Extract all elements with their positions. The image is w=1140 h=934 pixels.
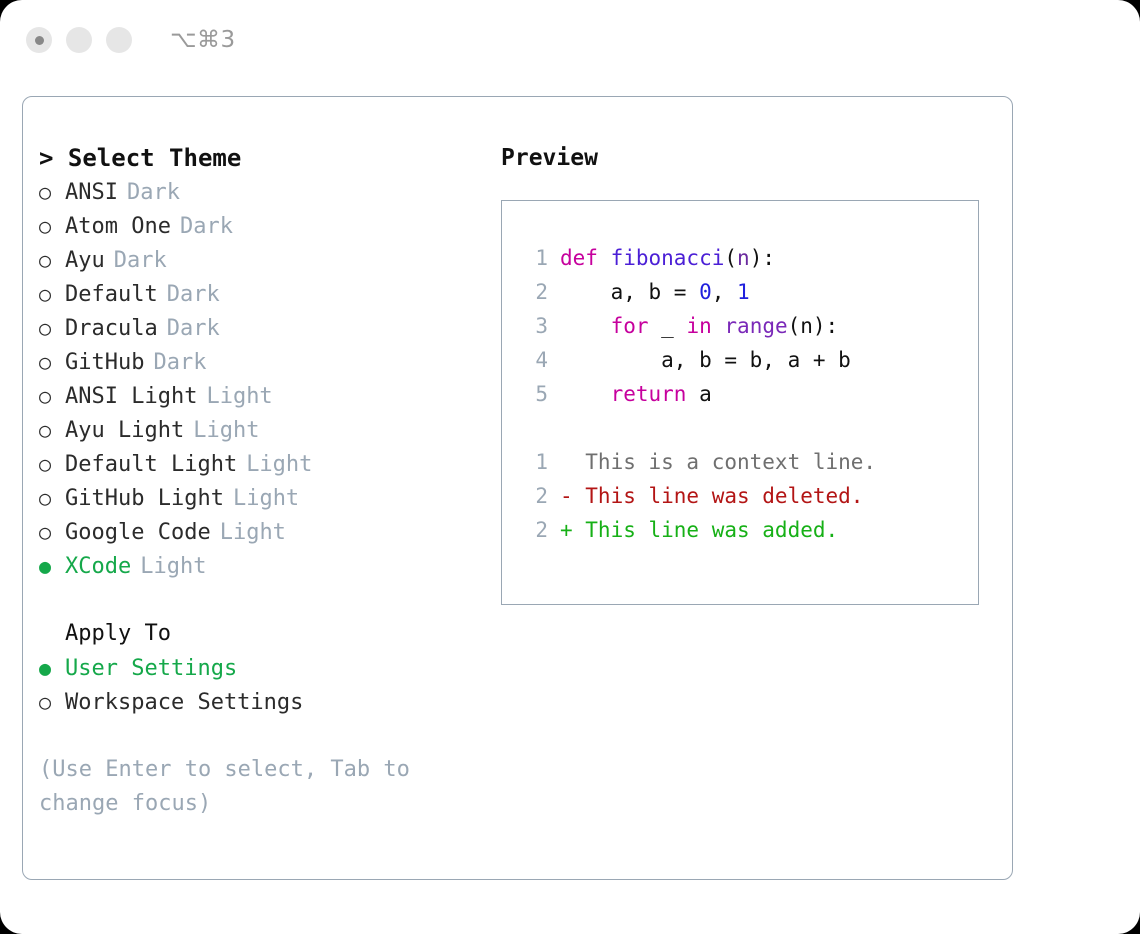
code-token: n [737,246,750,270]
line-number: 3 [520,309,548,343]
theme-variant-badge: Dark [153,346,206,380]
theme-name: Dracula [65,312,158,346]
theme-variant-badge: Light [246,448,312,482]
window-dot-minimize[interactable] [66,27,92,53]
code-token: fibonacci [611,246,725,270]
code-token [560,314,611,338]
diff-text: + This line was added. [560,513,838,547]
theme-list-item[interactable]: ○GitHubDark [39,345,479,379]
preview-title: Preview [501,141,1001,175]
keyboard-shortcut-label: ⌥⌘3 [170,27,236,53]
code-line: 2 a, b = 0, 1 [520,275,978,309]
window-dot-maximize[interactable] [106,27,132,53]
code-token: in [686,314,711,338]
line-number: 4 [520,343,548,377]
theme-variant-badge: Light [206,380,272,414]
theme-variant-badge: Light [233,482,299,516]
apply-to-label: Workspace Settings [65,686,303,720]
code-token: for [611,314,649,338]
theme-variant-badge: Dark [167,312,220,346]
radio-selected-icon: ● [39,549,65,583]
theme-list-item[interactable]: ○GitHub LightLight [39,481,479,515]
code-token: ): [750,246,775,270]
line-number: 2 [520,275,548,309]
code-text: return a [560,377,712,411]
theme-variant-badge: Light [193,414,259,448]
radio-unselected-icon: ○ [39,311,65,345]
code-token: 1 [737,280,750,304]
theme-list-item[interactable]: ●XCodeLight [39,549,479,583]
theme-list-item[interactable]: ○ANSIDark [39,175,479,209]
code-token: def [560,246,611,270]
code-diff-gap [520,411,978,445]
theme-name: Ayu Light [65,414,184,448]
code-token: (n): [788,314,839,338]
code-token: ( [724,246,737,270]
radio-unselected-icon: ○ [39,175,65,209]
code-token: a, b = b, a + b [560,348,851,372]
app-window: ⌥⌘3 > Select Theme ○ANSIDark○Atom OneDar… [0,0,1140,934]
code-token [712,314,725,338]
radio-selected-icon: ● [39,651,65,685]
radio-unselected-icon: ○ [39,243,65,277]
code-line: 1def fibonacci(n): [520,241,978,275]
line-number: 2 [520,513,548,547]
code-token: , [712,280,737,304]
theme-name: Google Code [65,516,211,550]
theme-list-item[interactable]: ○ANSI LightLight [39,379,479,413]
diff-line: 2- This line was deleted. [520,479,978,513]
radio-unselected-icon: ○ [39,209,65,243]
list-spacer [39,583,479,617]
diff-text: - This line was deleted. [560,479,863,513]
theme-name: GitHub [65,346,144,380]
theme-variant-badge: Light [140,550,206,584]
code-token: a, b = [560,280,699,304]
code-token: _ [649,314,687,338]
radio-unselected-icon: ○ [39,413,65,447]
code-token: return [611,382,687,406]
line-number: 1 [520,445,548,479]
theme-name: Atom One [65,210,171,244]
line-number: 2 [520,479,548,513]
theme-name: ANSI Light [65,380,197,414]
radio-unselected-icon: ○ [39,685,65,719]
code-text: for _ in range(n): [560,309,838,343]
code-text: a, b = b, a + b [560,343,851,377]
code-token: range [724,314,787,338]
radio-unselected-icon: ○ [39,379,65,413]
code-line: 3 for _ in range(n): [520,309,978,343]
diff-line: 1 This is a context line. [520,445,978,479]
theme-variant-badge: Dark [180,210,233,244]
theme-variant-badge: Dark [114,244,167,278]
theme-list-item[interactable]: ○Ayu LightLight [39,413,479,447]
preview-column: Preview 1def fibonacci(n):2 a, b = 0, 13… [501,141,1001,605]
theme-picker-column: > Select Theme ○ANSIDark○Atom OneDark○Ay… [39,141,479,821]
code-token: 0 [699,280,712,304]
code-text: def fibonacci(n): [560,241,775,275]
radio-unselected-icon: ○ [39,345,65,379]
keyboard-hint: (Use Enter to select, Tab to change focu… [39,753,439,821]
title-bar: ⌥⌘3 [0,0,1140,80]
code-sample: 1def fibonacci(n):2 a, b = 0, 13 for _ i… [520,241,978,411]
window-dot-inner [35,36,44,45]
theme-list-item[interactable]: ○Default LightLight [39,447,479,481]
theme-name: Default [65,278,158,312]
line-number: 1 [520,241,548,275]
theme-list-item[interactable]: ○DraculaDark [39,311,479,345]
select-theme-heading: > Select Theme [39,141,479,175]
apply-to-item[interactable]: ●User Settings [39,651,479,685]
diff-text: This is a context line. [560,445,876,479]
apply-to-heading: Apply To [39,617,479,651]
theme-name: Default Light [65,448,237,482]
preview-box: 1def fibonacci(n):2 a, b = 0, 13 for _ i… [501,200,979,605]
radio-unselected-icon: ○ [39,277,65,311]
code-line: 4 a, b = b, a + b [520,343,978,377]
theme-list-item[interactable]: ○Google CodeLight [39,515,479,549]
theme-name: XCode [65,550,131,584]
theme-name: ANSI [65,176,118,210]
radio-unselected-icon: ○ [39,481,65,515]
code-token [560,382,611,406]
theme-list: ○ANSIDark○Atom OneDark○AyuDark○DefaultDa… [39,175,479,583]
window-dot-close[interactable] [26,27,52,53]
radio-unselected-icon: ○ [39,447,65,481]
window-controls [26,27,132,53]
theme-list-item[interactable]: ○AyuDark [39,243,479,277]
diff-sample: 1 This is a context line.2- This line wa… [520,445,978,547]
code-text: a, b = 0, 1 [560,275,750,309]
diff-line: 2+ This line was added. [520,513,978,547]
theme-name: GitHub Light [65,482,224,516]
theme-variant-badge: Dark [127,176,180,210]
line-number: 5 [520,377,548,411]
apply-to-label: User Settings [65,652,237,686]
main-panel: > Select Theme ○ANSIDark○Atom OneDark○Ay… [22,96,1013,880]
theme-name: Ayu [65,244,105,278]
apply-to-list: ●User Settings○Workspace Settings [39,651,479,719]
theme-variant-badge: Light [220,516,286,550]
radio-unselected-icon: ○ [39,515,65,549]
apply-to-item[interactable]: ○Workspace Settings [39,685,479,719]
theme-list-item[interactable]: ○DefaultDark [39,277,479,311]
code-line: 5 return a [520,377,978,411]
theme-variant-badge: Dark [167,278,220,312]
code-token: a [686,382,711,406]
theme-list-item[interactable]: ○Atom OneDark [39,209,479,243]
